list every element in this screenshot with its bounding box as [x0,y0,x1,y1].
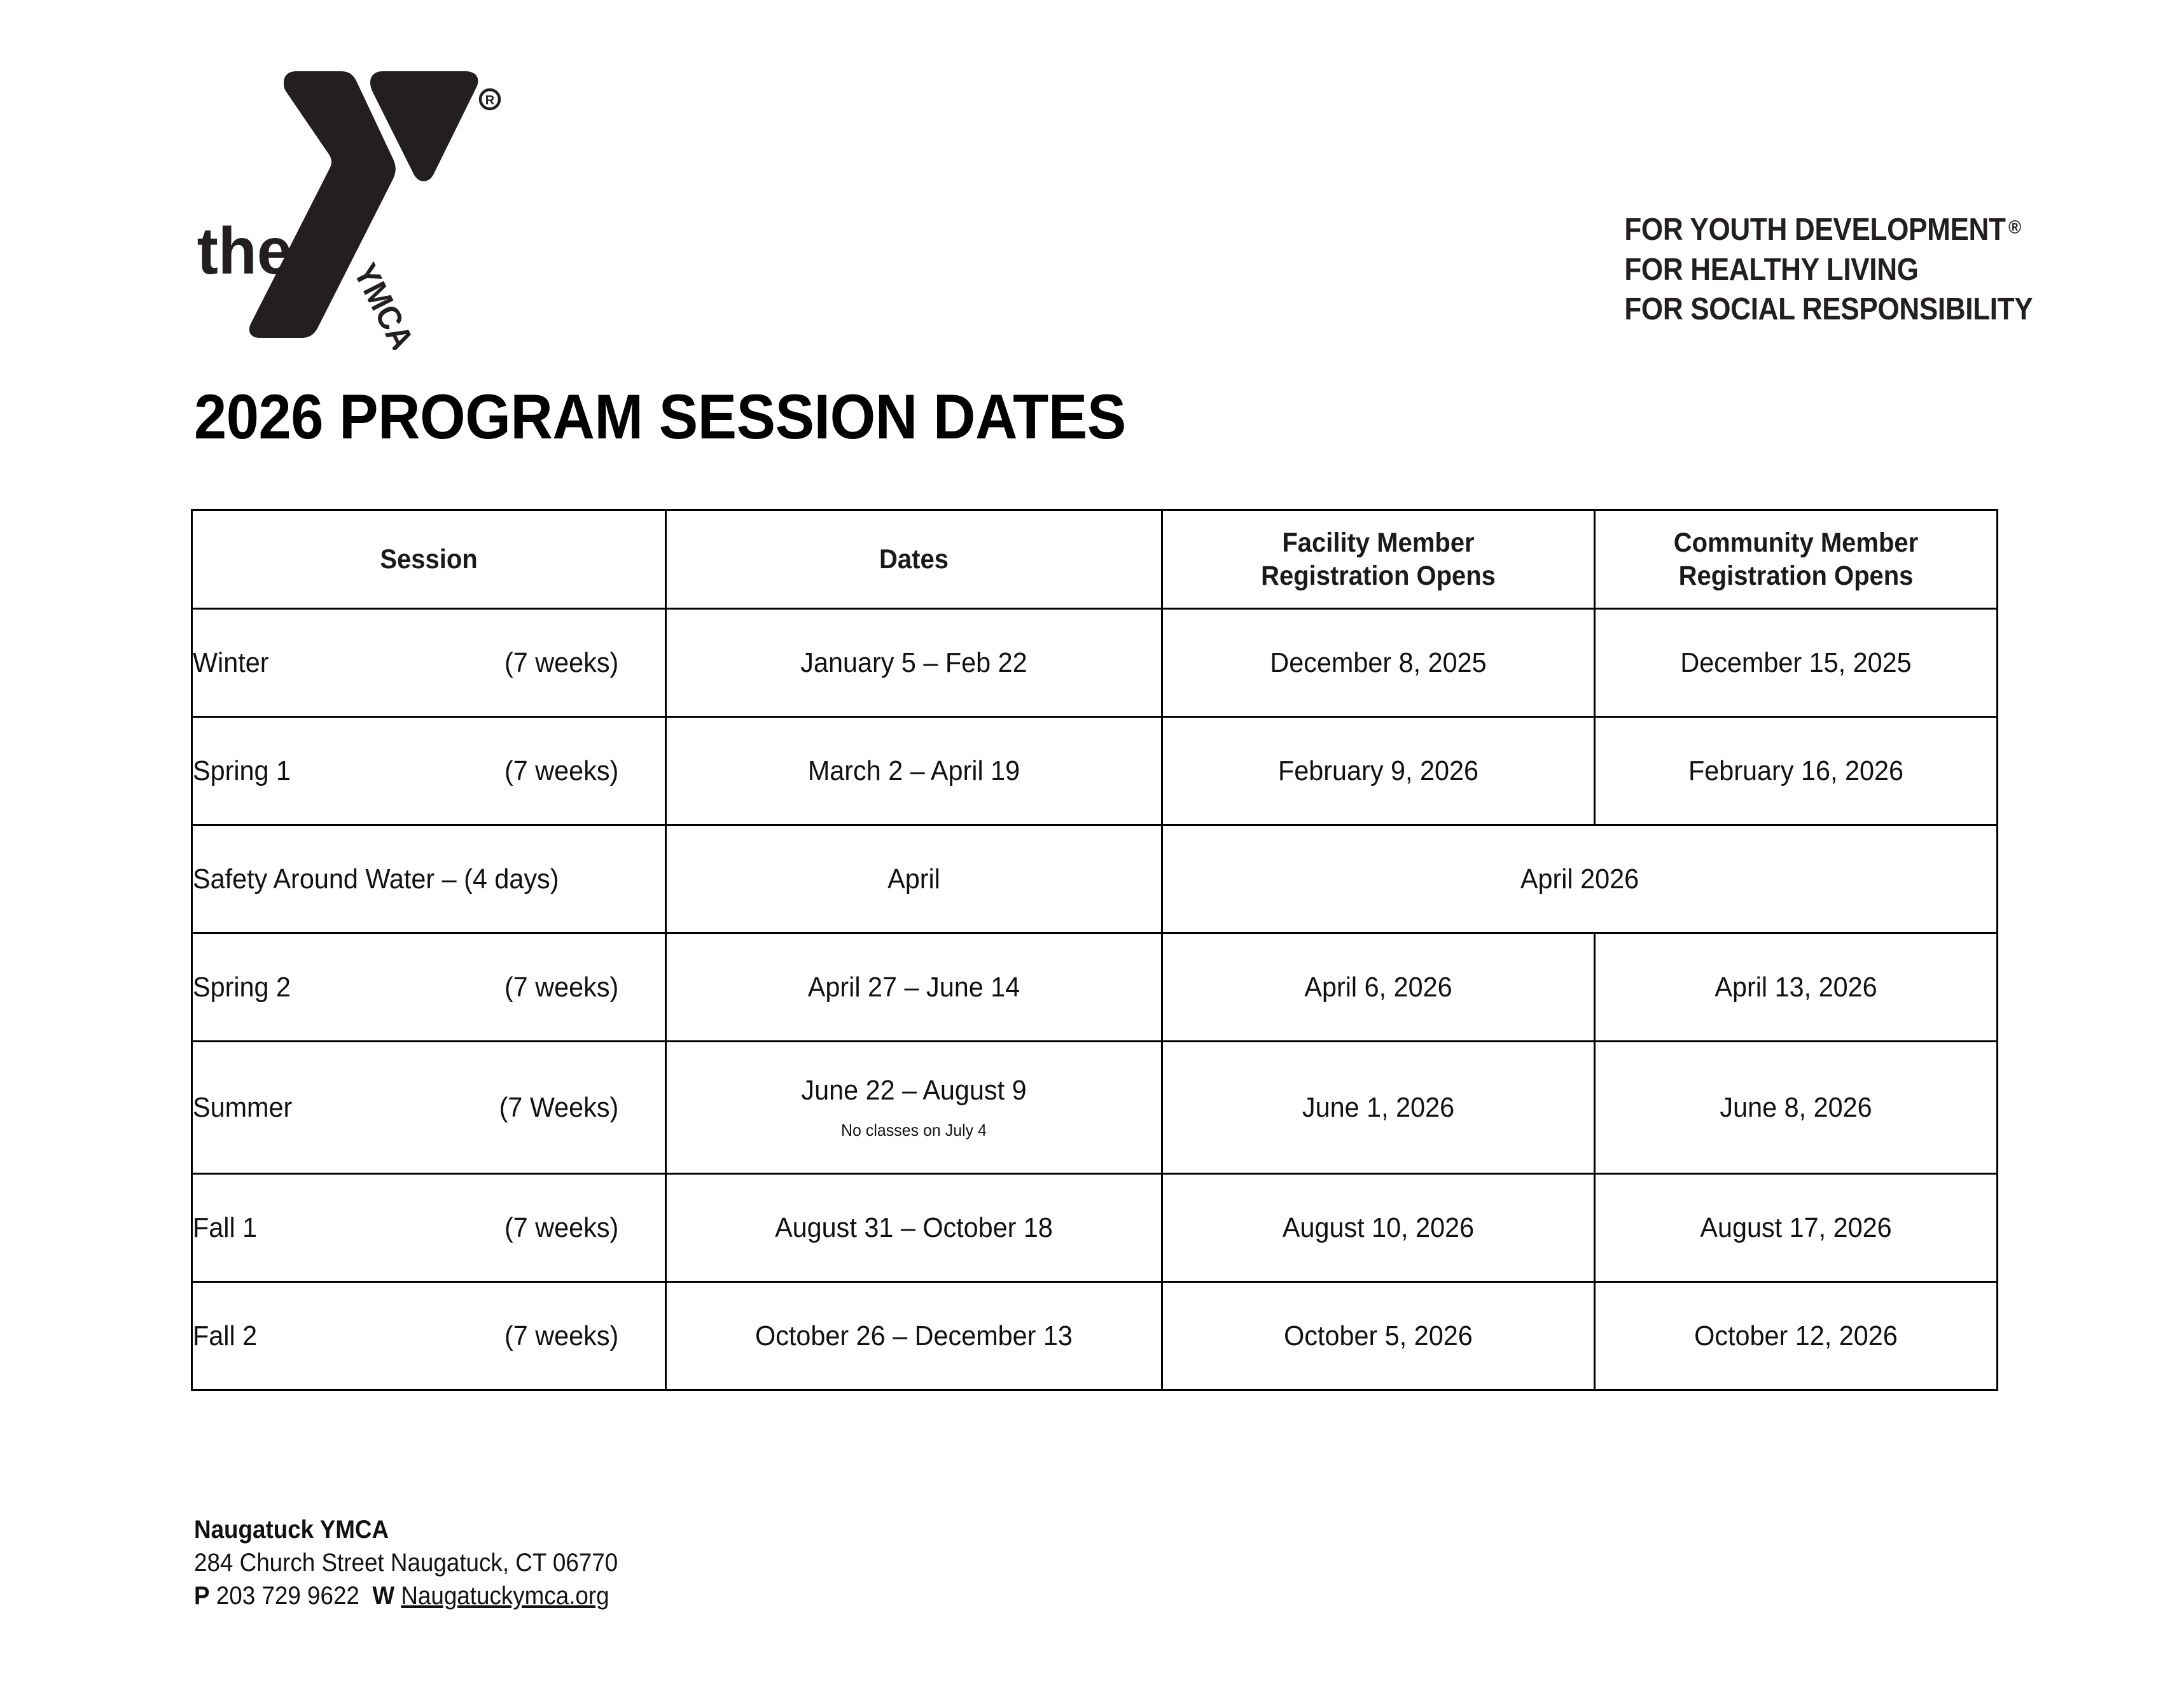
session-cell: Spring 1 (7 weeks) [192,717,666,825]
column-header-session-label: Session [209,543,648,576]
facility-registration-cell: April 6, 2026 [1162,933,1595,1042]
dates-value: August 31 – October 18 [681,1212,1146,1244]
ymca-logo: the YMCA R [191,70,528,350]
facility-registration-date: December 8, 2025 [1176,647,1580,679]
column-header-facility-member: Facility Member Registration Opens [1162,510,1595,609]
session-duration: (7 weeks) [504,1320,636,1352]
dates-value: April [681,863,1146,895]
dates-cell: April 27 – June 14 [666,933,1162,1042]
footer-website-link[interactable]: Naugatuckymca.org [401,1582,609,1610]
community-registration-cell: June 8, 2026 [1595,1042,1998,1174]
column-header-community-line1: Community Member [1610,526,1982,559]
tagline-line-3: FOR SOCIAL RESPONSIBILITY [1624,290,2033,330]
column-header-community-member: Community Member Registration Opens [1595,510,1998,609]
facility-registration-cell: October 5, 2026 [1162,1282,1595,1390]
facility-registration-date: October 5, 2026 [1176,1320,1580,1352]
table-row: Safety Around Water – (4 days) April Apr… [192,825,1998,933]
facility-registration-cell: June 1, 2026 [1162,1042,1595,1174]
dates-cell: October 26 – December 13 [666,1282,1162,1390]
dates-cell: March 2 – April 19 [666,717,1162,825]
community-registration-date: June 8, 2026 [1608,1092,1984,1124]
dates-value: January 5 – Feb 22 [681,647,1146,679]
tagline-line-1: FOR YOUTH DEVELOPMENT® [1624,210,2033,250]
community-registration-date: December 15, 2025 [1608,647,1984,679]
dates-value: October 26 – December 13 [681,1320,1146,1352]
footer-phone-web: P 203 729 9622 W Naugatuckymca.org [194,1579,618,1612]
column-header-facility-line2: Registration Opens [1178,559,1579,592]
session-name: Summer [193,1092,292,1124]
facility-registration-date: February 9, 2026 [1176,755,1580,787]
svg-text:the: the [197,214,293,288]
table-header-row: Session Dates Facility Member Registrati… [192,510,1998,609]
brand-tagline: FOR YOUTH DEVELOPMENT® FOR HEALTHY LIVIN… [1624,210,2033,330]
footer-address: 284 Church Street Naugatuck, CT 06770 [194,1546,618,1579]
community-registration-date: August 17, 2026 [1608,1212,1984,1244]
table-row: Fall 2 (7 weeks) October 26 – December 1… [192,1282,1998,1390]
column-header-dates-label: Dates [684,543,1144,576]
facility-registration-date: April 6, 2026 [1176,972,1580,1003]
session-duration: (7 weeks) [504,647,636,679]
facility-registration-cell: August 10, 2026 [1162,1174,1595,1282]
session-name: Spring 2 [193,972,291,1003]
facility-registration-cell: December 8, 2025 [1162,609,1595,717]
table-row: Winter (7 weeks) January 5 – Feb 22 Dece… [192,609,1998,717]
facility-registration-cell: February 9, 2026 [1162,717,1595,825]
footer-web-label: W [372,1582,394,1610]
registered-trademark-icon: ® [2005,217,2021,238]
community-registration-cell: August 17, 2026 [1595,1174,1998,1282]
session-dates-table-wrapper: Session Dates Facility Member Registrati… [191,509,1996,1391]
community-registration-cell: December 15, 2025 [1595,609,1998,717]
session-duration: (7 Weeks) [499,1092,637,1124]
session-cell: Fall 1 (7 weeks) [192,1174,666,1282]
footer-contact-block: Naugatuck YMCA 284 Church Street Naugatu… [194,1513,655,1612]
tagline-line-2: FOR HEALTHY LIVING [1624,250,2033,290]
session-name: Spring 1 [193,755,291,787]
facility-registration-date: August 10, 2026 [1176,1212,1580,1244]
column-header-session: Session [192,510,666,609]
page-title: 2026 PROGRAM SESSION DATES [194,381,1126,453]
dates-note: No classes on July 4 [677,1121,1151,1140]
community-registration-date: February 16, 2026 [1608,755,1984,787]
column-header-community-line2: Registration Opens [1610,559,1982,592]
column-header-facility-line1: Facility Member [1178,526,1579,559]
dates-value: April 27 – June 14 [681,972,1146,1003]
footer-phone-label: P [194,1582,210,1610]
column-header-dates: Dates [666,510,1162,609]
community-registration-cell: February 16, 2026 [1595,717,1998,825]
svg-text:YMCA: YMCA [347,257,422,350]
community-registration-cell: October 12, 2026 [1595,1282,1998,1390]
session-cell: Spring 2 (7 weeks) [192,933,666,1042]
registration-merged-value: April 2026 [1188,863,1971,895]
session-duration: (7 weeks) [504,755,636,787]
session-name: Winter [193,647,268,679]
footer-phone-number: 203 729 9622 [216,1582,359,1610]
dates-cell: January 5 – Feb 22 [666,609,1162,717]
table-row: Spring 2 (7 weeks) April 27 – June 14 Ap… [192,933,1998,1042]
dates-cell: August 31 – October 18 [666,1174,1162,1282]
dates-value: March 2 – April 19 [681,755,1146,787]
dates-cell: June 22 – August 9 No classes on July 4 [666,1042,1162,1174]
session-name: Fall 1 [193,1212,257,1244]
community-registration-date: April 13, 2026 [1608,972,1984,1003]
footer-organization: Naugatuck YMCA [194,1513,618,1546]
session-cell: Safety Around Water – (4 days) [192,825,666,933]
registration-merged-cell: April 2026 [1162,825,1998,933]
dates-cell: April [666,825,1162,933]
page-header: the YMCA R FOR YOUTH DEVELOPMENT® FOR HE… [0,0,2184,356]
community-registration-date: October 12, 2026 [1608,1320,1984,1352]
session-cell: Summer (7 Weeks) [192,1042,666,1174]
table-row: Spring 1 (7 weeks) March 2 – April 19 Fe… [192,717,1998,825]
session-duration: (7 weeks) [504,972,636,1003]
session-cell: Fall 2 (7 weeks) [192,1282,666,1390]
session-duration: (7 weeks) [504,1212,636,1244]
table-row: Summer (7 Weeks) June 22 – August 9 No c… [192,1042,1998,1174]
table-row: Fall 1 (7 weeks) August 31 – October 18 … [192,1174,1998,1282]
session-cell: Winter (7 weeks) [192,609,666,717]
community-registration-cell: April 13, 2026 [1595,933,1998,1042]
session-name: Fall 2 [193,1320,257,1352]
session-dates-table: Session Dates Facility Member Registrati… [191,509,1998,1391]
svg-text:R: R [485,94,495,108]
facility-registration-date: June 1, 2026 [1176,1092,1580,1124]
session-name: Safety Around Water – (4 days) [193,863,559,895]
dates-value: June 22 – August 9 [681,1075,1146,1107]
ymca-y-logo-icon: the YMCA R [191,70,528,350]
